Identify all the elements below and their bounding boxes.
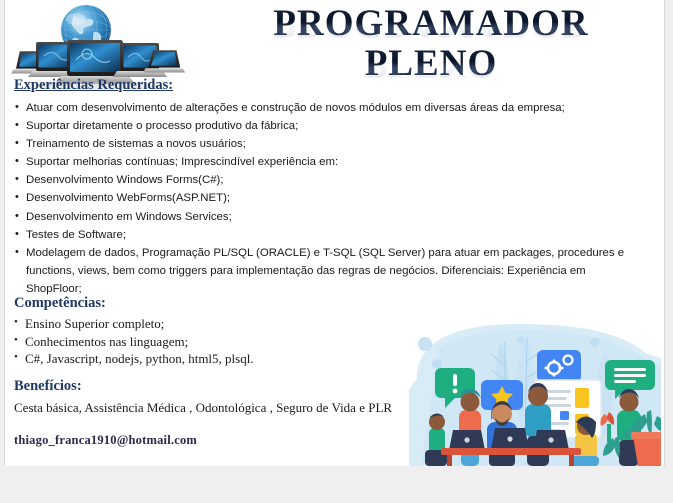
list-item: Desenvolvimento Windows Forms(C#); xyxy=(14,172,659,189)
list-item: Treinamento de sistemas a novos usuários… xyxy=(14,136,659,153)
heading-competencias: Competências: xyxy=(14,295,414,312)
contact-email[interactable]: thiago_franca1910@hotmail.com xyxy=(14,433,197,448)
laptop-illustration xyxy=(449,430,485,450)
document-canvas: PROGRAMADOR PLENO Experiências Requerida… xyxy=(0,0,673,503)
list-item: Desenvolvimento WebForms(ASP.NET); xyxy=(14,190,659,207)
section-experiencias: Experiências Requeridas: Atuar com desen… xyxy=(14,77,659,299)
heading-experiencias-requeridas: Experiências Requeridas: xyxy=(14,77,659,94)
section-competencias: Competências: Ensino Superior completo; … xyxy=(14,295,414,368)
list-item: C#, Javascript, nodejs, python, html5, p… xyxy=(14,350,414,367)
list-item: Atuar com desenvolvimento de alterações … xyxy=(14,100,659,117)
list-item-continuation: functions, views, bem como triggers para… xyxy=(14,263,659,280)
heading-beneficios: Benefícios: xyxy=(14,378,434,395)
list-item: Ensino Superior completo; xyxy=(14,315,414,332)
list-item: Suportar melhorias contínuas; Imprescind… xyxy=(14,154,659,171)
list-item: Testes de Software; xyxy=(14,227,659,244)
team-collaboration-illustration xyxy=(409,318,661,466)
laptop-illustration xyxy=(491,428,529,450)
section-beneficios: Benefícios: Cesta básica, Assistência Mé… xyxy=(14,378,434,417)
experiencias-list: Atuar com desenvolvimento de alterações … xyxy=(14,100,659,298)
list-item: Desenvolvimento em Windows Services; xyxy=(14,209,659,226)
beneficios-text: Cesta básica, Assistência Médica , Odont… xyxy=(14,399,434,417)
list-item: Modelagem de dados, Programação PL/SQL (… xyxy=(14,245,659,262)
competencias-list: Ensino Superior completo; Conhecimentos … xyxy=(14,315,414,367)
list-item: Conhecimentos nas linguagem; xyxy=(14,333,414,350)
laptop-illustration xyxy=(533,430,569,450)
list-item: Suportar diretamente o processo produtiv… xyxy=(14,118,659,135)
title-line-1: PROGRAMADOR xyxy=(196,4,666,44)
